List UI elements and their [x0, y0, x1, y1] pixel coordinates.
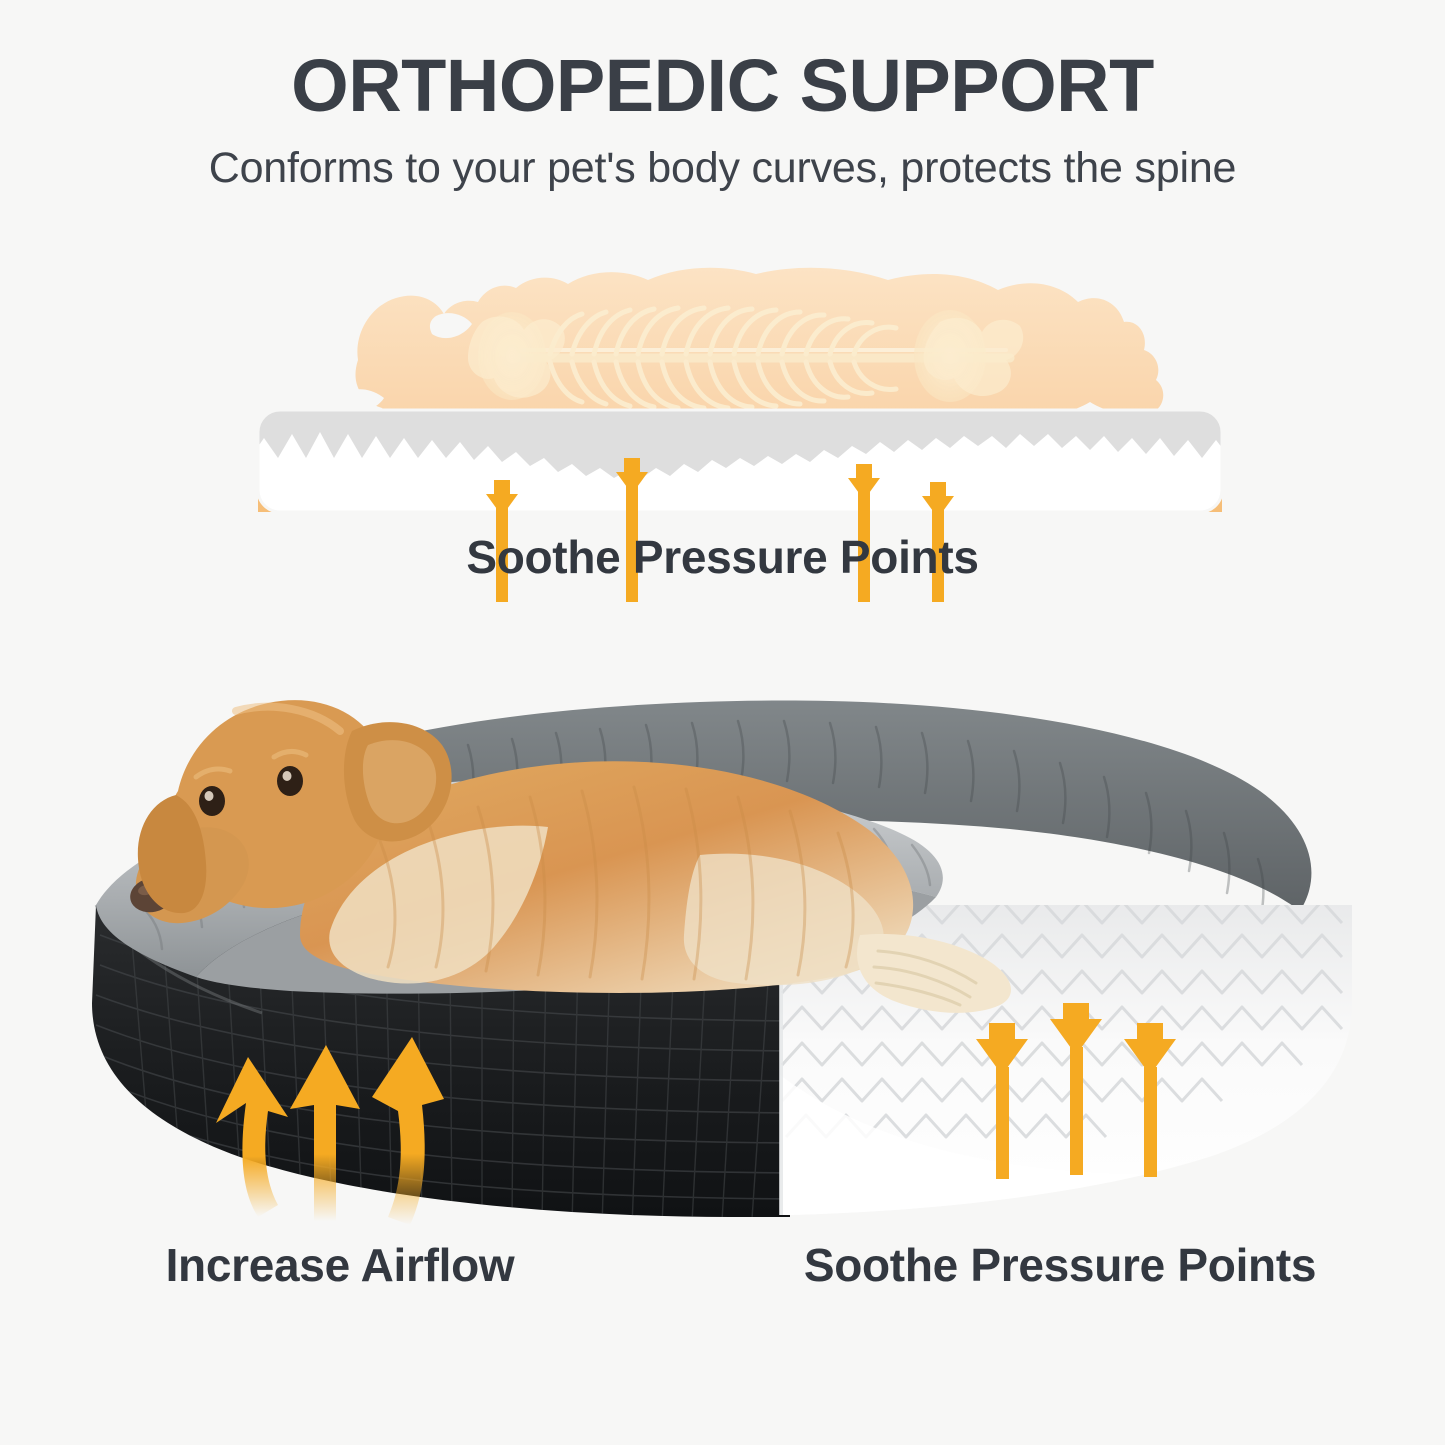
pressure-arrows-bottom — [976, 1003, 1176, 1179]
label-increase-airflow: Increase Airflow — [60, 1238, 620, 1292]
egg-crate-foam — [250, 410, 1230, 520]
label-soothe-pressure-points-bottom: Soothe Pressure Points — [790, 1238, 1330, 1292]
label-soothe-pressure-points-top: Soothe Pressure Points — [0, 530, 1445, 584]
infographic-root: ORTHOPEDIC SUPPORT Conforms to your pet'… — [0, 0, 1445, 1445]
airflow-arrows — [216, 1037, 444, 1225]
product-photo — [0, 605, 1445, 1245]
page-subtitle: Conforms to your pet's body curves, prot… — [0, 144, 1445, 193]
page-title: ORTHOPEDIC SUPPORT — [0, 48, 1445, 123]
